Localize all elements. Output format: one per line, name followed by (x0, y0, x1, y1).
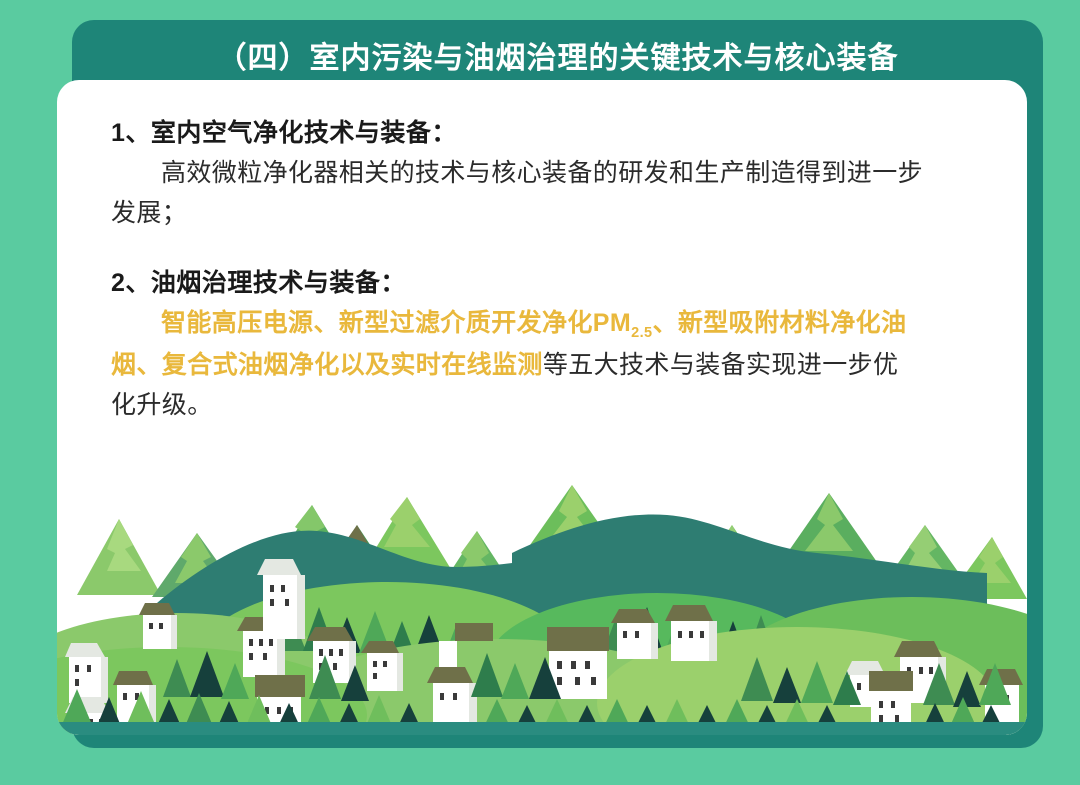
house (665, 605, 717, 661)
section-2-heading: 2、油烟治理技术与装备： (111, 264, 923, 303)
body-text: 1、室内空气净化技术与装备： 高效微粒净化器相关的技术与核心装备的研发和生产制造… (57, 114, 977, 436)
page-title: （四）室内污染与油烟治理的关键技术与核心装备 (217, 33, 899, 77)
highlight-subscript: 2.5 (631, 325, 652, 341)
house (611, 609, 658, 659)
landscape-illustration (57, 475, 1027, 735)
section-2: 2、油烟治理技术与装备： 智能高压电源、新型过滤介质开发净化PM2.5、新型吸附… (111, 264, 923, 426)
house (65, 643, 108, 703)
section-spacer (111, 244, 923, 264)
house (139, 603, 177, 649)
section-1-paragraph: 高效微粒净化器相关的技术与核心装备的研发和生产制造得到进一步发展； (111, 153, 923, 234)
house (361, 641, 403, 691)
ground-strip (57, 722, 1027, 735)
highlight-prefix: 智能高压电源、新型过滤介质开发净化PM (161, 309, 631, 337)
house (257, 559, 305, 639)
section-1-heading: 1、室内空气净化技术与装备： (111, 114, 923, 153)
section-1: 1、室内空气净化技术与装备： 高效微粒净化器相关的技术与核心装备的研发和生产制造… (111, 114, 923, 234)
section-2-paragraph: 智能高压电源、新型过滤介质开发净化PM2.5、新型吸附材料净化油烟、复合式油烟净… (111, 303, 923, 426)
